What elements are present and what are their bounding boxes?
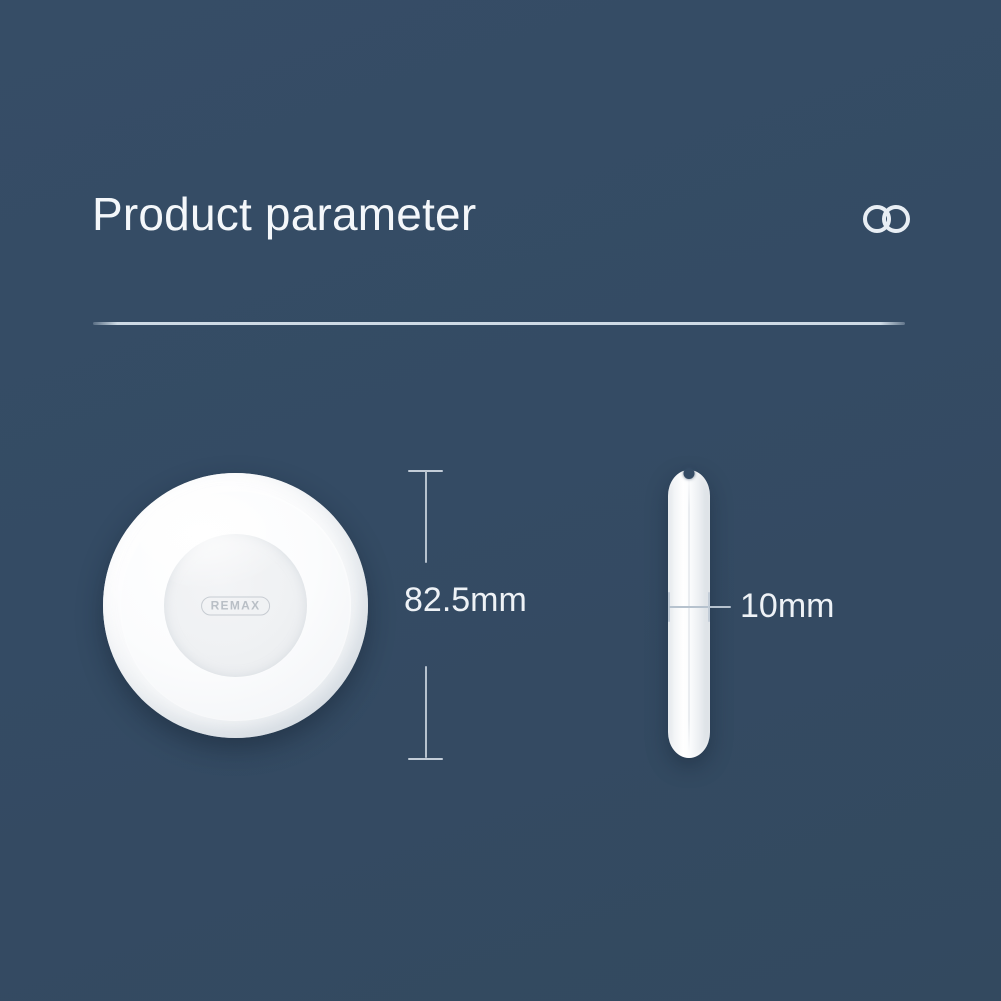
thickness-dimension: 10mm bbox=[662, 592, 837, 636]
diameter-value-label: 82.5mm bbox=[404, 583, 527, 617]
header-divider bbox=[93, 322, 905, 325]
thickness-value-label: 10mm bbox=[740, 589, 834, 623]
pad-side-top-notch bbox=[684, 468, 695, 479]
infinity-double-circle-icon bbox=[857, 196, 917, 242]
dimension-bar bbox=[669, 606, 709, 608]
dimension-leader-line bbox=[709, 606, 731, 608]
remax-brand-logo: REMAX bbox=[201, 596, 271, 615]
page-title: Product parameter bbox=[92, 191, 476, 237]
dimension-stem-lower bbox=[425, 666, 427, 758]
dimension-stem-upper bbox=[425, 471, 427, 563]
diameter-dimension: 82.5mm bbox=[400, 470, 560, 760]
dimension-cap-bottom bbox=[408, 758, 443, 760]
pad-outer-disc: REMAX bbox=[103, 473, 368, 738]
product-top-view: REMAX bbox=[103, 473, 368, 738]
product-parameter-page: Product parameter REMAX 82.5mm bbox=[0, 0, 1001, 1001]
